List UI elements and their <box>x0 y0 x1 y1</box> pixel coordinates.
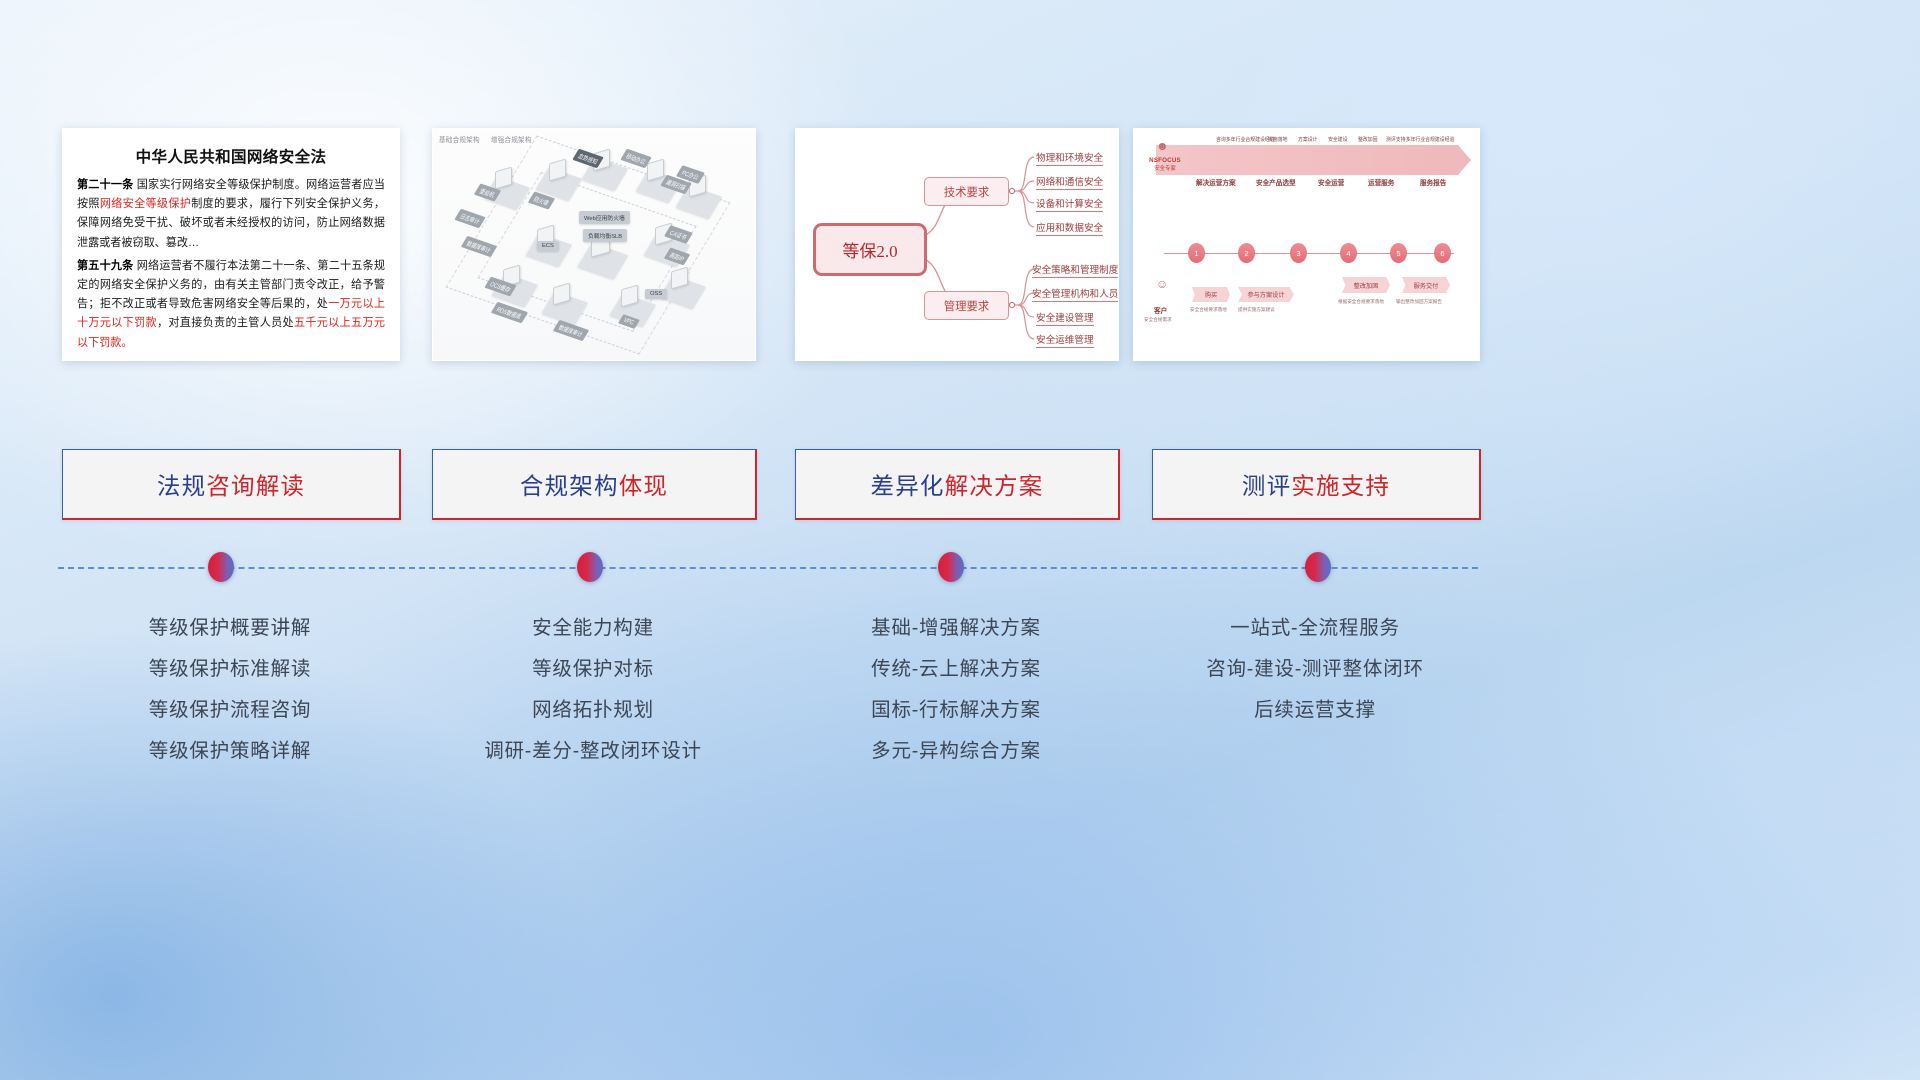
bullet-column-0: 等级保护概要讲解 等级保护标准解读 等级保护流程咨询 等级保护策略详解 <box>62 608 398 772</box>
pillar-label-0-blue: 法规 <box>157 473 206 499</box>
list-item: 调研-差分-整改闭环设计 <box>432 731 754 772</box>
pillar-label-1-blue: 合规架构 <box>520 473 619 499</box>
pillar-label-2: 差异化解决方案 <box>871 467 1044 501</box>
list-item: 等级保护策略详解 <box>62 731 398 772</box>
list-item: 等级保护概要讲解 <box>62 608 398 649</box>
pillar-label-0: 法规咨询解读 <box>157 467 305 501</box>
bullet-list-2: 基础-增强解决方案 传统-云上解决方案 国标-行标解决方案 多元-异构综合方案 <box>795 608 1117 772</box>
bullet-column-2: 基础-增强解决方案 传统-云上解决方案 国标-行标解决方案 多元-异构综合方案 <box>795 608 1117 772</box>
list-item: 安全能力构建 <box>432 608 754 649</box>
list-item: 后续运营支撑 <box>1140 690 1490 731</box>
list-item: 传统-云上解决方案 <box>795 649 1117 690</box>
pillar-label-1: 合规架构体现 <box>520 467 668 501</box>
pillar-regulation-consulting[interactable]: 法规咨询解读 <box>62 449 401 520</box>
timeline-dot-1 <box>577 552 603 582</box>
pillar-label-2-red: 解决方案 <box>945 473 1044 499</box>
list-item: 国标-行标解决方案 <box>795 690 1117 731</box>
bullet-column-1: 安全能力构建 等级保护对标 网络拓扑规划 调研-差分-整改闭环设计 <box>432 608 754 772</box>
list-item: 网络拓扑规划 <box>432 690 754 731</box>
timeline-dot-2 <box>938 552 964 582</box>
pillar-label-3-red: 实施支持 <box>1291 473 1390 499</box>
list-item: 多元-异构综合方案 <box>795 731 1117 772</box>
pillar-label-3-blue: 测评 <box>1242 473 1291 499</box>
timeline-dot-3 <box>1305 552 1331 582</box>
pillar-label-3: 测评实施支持 <box>1242 467 1390 501</box>
bullet-column-3: 一站式-全流程服务 咨询-建设-测评整体闭环 后续运营支撑 <box>1140 608 1490 731</box>
list-item: 基础-增强解决方案 <box>795 608 1117 649</box>
pillar-label-1-red: 体现 <box>619 473 668 499</box>
pillar-differentiated-solution[interactable]: 差异化解决方案 <box>795 449 1120 520</box>
list-item: 等级保护标准解读 <box>62 649 398 690</box>
pillar-label-0-red: 咨询解读 <box>206 473 305 499</box>
pillar-compliance-architecture[interactable]: 合规架构体现 <box>432 449 757 520</box>
pillar-label-2-blue: 差异化 <box>871 473 945 499</box>
bullet-list-0: 等级保护概要讲解 等级保护标准解读 等级保护流程咨询 等级保护策略详解 <box>62 608 398 772</box>
bullet-list-1: 安全能力构建 等级保护对标 网络拓扑规划 调研-差分-整改闭环设计 <box>432 608 754 772</box>
list-item: 咨询-建设-测评整体闭环 <box>1140 649 1490 690</box>
pillar-row: 法规咨询解读 合规架构体现 差异化解决方案 测评实施支持 等级保护概要讲解 等级… <box>0 0 1920 1080</box>
list-item: 一站式-全流程服务 <box>1140 608 1490 649</box>
pillar-assessment-support[interactable]: 测评实施支持 <box>1152 449 1481 520</box>
list-item: 等级保护对标 <box>432 649 754 690</box>
bullet-list-3: 一站式-全流程服务 咨询-建设-测评整体闭环 后续运营支撑 <box>1140 608 1490 731</box>
list-item: 等级保护流程咨询 <box>62 690 398 731</box>
timeline-dashed-line <box>58 567 1478 571</box>
timeline-dot-0 <box>208 552 234 582</box>
